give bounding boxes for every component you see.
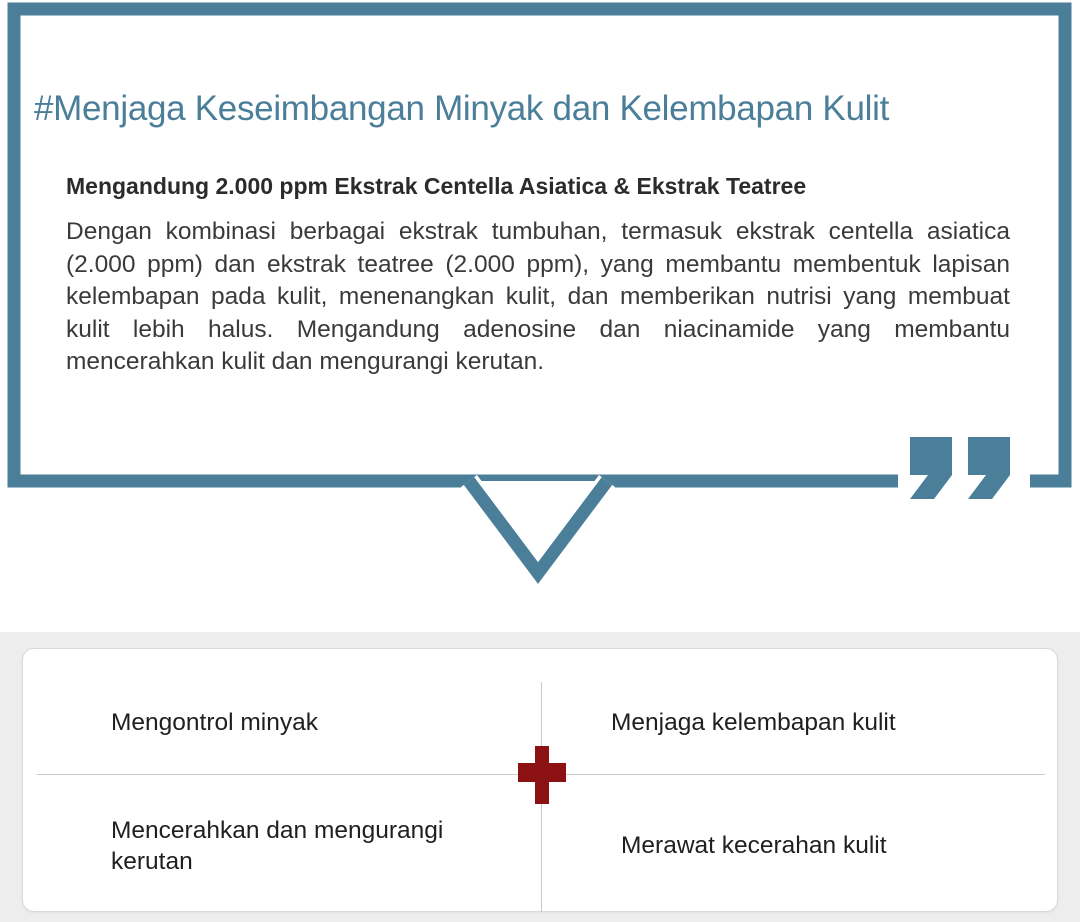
benefit-label: Merawat kecerahan kulit	[621, 830, 887, 861]
benefits-card: Mengontrol minyak Menjaga kelembapan kul…	[22, 648, 1058, 912]
benefit-item-bottom-left: Mencerahkan dan mengurangi kerutan	[111, 791, 511, 901]
closing-quote-icon	[910, 437, 1014, 499]
page-root: #Menjaga Keseimbangan Minyak dan Kelemba…	[0, 0, 1080, 922]
benefit-item-top-left: Mengontrol minyak	[111, 673, 511, 773]
benefit-label: Mencerahkan dan mengurangi kerutan	[111, 815, 511, 878]
benefit-label: Menjaga kelembapan kulit	[611, 707, 896, 738]
red-cross-icon	[518, 746, 566, 804]
benefit-item-top-right: Menjaga kelembapan kulit	[611, 673, 1041, 773]
ingredient-description: Dengan kombinasi berbagai ekstrak tumbuh…	[66, 216, 1010, 379]
benefit-item-bottom-right: Merawat kecerahan kulit	[621, 791, 1051, 901]
benefit-label: Mengontrol minyak	[111, 707, 318, 738]
benefits-section: Mengontrol minyak Menjaga kelembapan kul…	[0, 632, 1080, 922]
speech-bubble-section: #Menjaga Keseimbangan Minyak dan Kelemba…	[0, 0, 1080, 632]
page-title: #Menjaga Keseimbangan Minyak dan Kelemba…	[34, 88, 1054, 130]
speech-bubble-content: #Menjaga Keseimbangan Minyak dan Kelemba…	[0, 0, 1080, 485]
ingredient-subtitle: Mengandung 2.000 ppm Ekstrak Centella As…	[66, 172, 1026, 202]
